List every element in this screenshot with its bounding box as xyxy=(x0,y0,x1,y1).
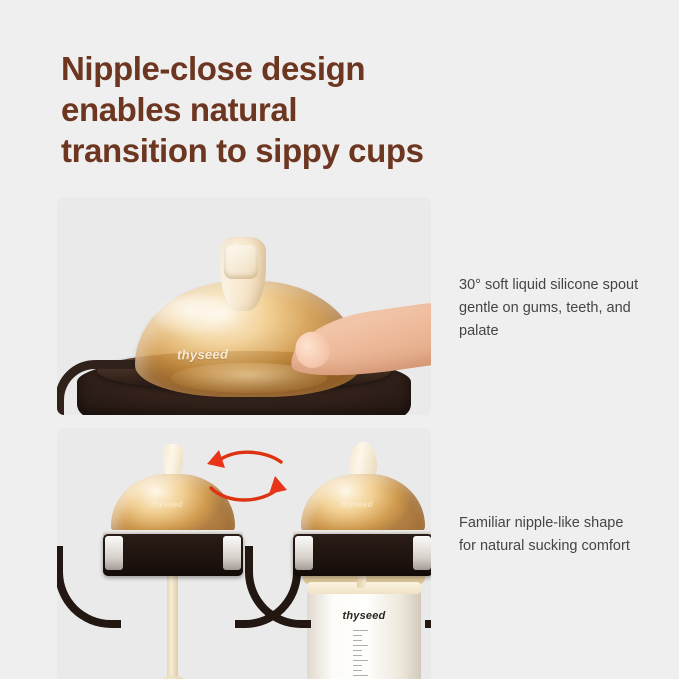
arrow-top-curve xyxy=(217,452,281,462)
collar-right xyxy=(293,534,431,576)
straw xyxy=(167,572,178,679)
arrow-bottom-curve xyxy=(211,488,279,500)
page-title-line-1: Nipple-close design xyxy=(61,48,531,89)
silicone-spout xyxy=(220,237,266,311)
collar-left xyxy=(103,534,243,576)
page-title-line-2: enables natural xyxy=(61,89,531,130)
handle-clip-right xyxy=(413,536,431,570)
page-title: Nipple-close design enables natural tran… xyxy=(61,48,531,171)
bottle-handle-left xyxy=(57,360,138,415)
measurement-scale xyxy=(353,630,383,679)
brand-logo-nipple-dome: thyseed xyxy=(341,500,373,509)
spout-tip xyxy=(224,245,258,279)
handle-clip-left xyxy=(105,536,123,570)
handle-clip-left xyxy=(295,536,313,570)
feature-image-nipple-clip: thyseed thyseed xyxy=(57,428,431,679)
page-title-line-3: transition to sippy cups xyxy=(61,130,531,171)
feature-image-spout: thyseed xyxy=(57,197,431,415)
brand-logo-sippy-dome: thyseed xyxy=(151,500,183,509)
feature-image-nipple: thyseed thyseed xyxy=(57,428,431,679)
feature-caption-nipple: Familiar nipple-like shape for natural s… xyxy=(459,512,644,558)
brand-logo-dome: thyseed xyxy=(177,347,228,363)
feature-caption-spout: 30° soft liquid silicone spout gentle on… xyxy=(459,274,644,343)
exchange-arrows xyxy=(199,442,295,514)
arrow-head-right xyxy=(269,476,287,494)
feature-image-spout-clip: thyseed xyxy=(57,197,431,415)
exchange-arrows-svg xyxy=(199,442,295,514)
handle-clip-right xyxy=(223,536,241,570)
brand-logo-bottle: thyseed xyxy=(309,610,419,622)
